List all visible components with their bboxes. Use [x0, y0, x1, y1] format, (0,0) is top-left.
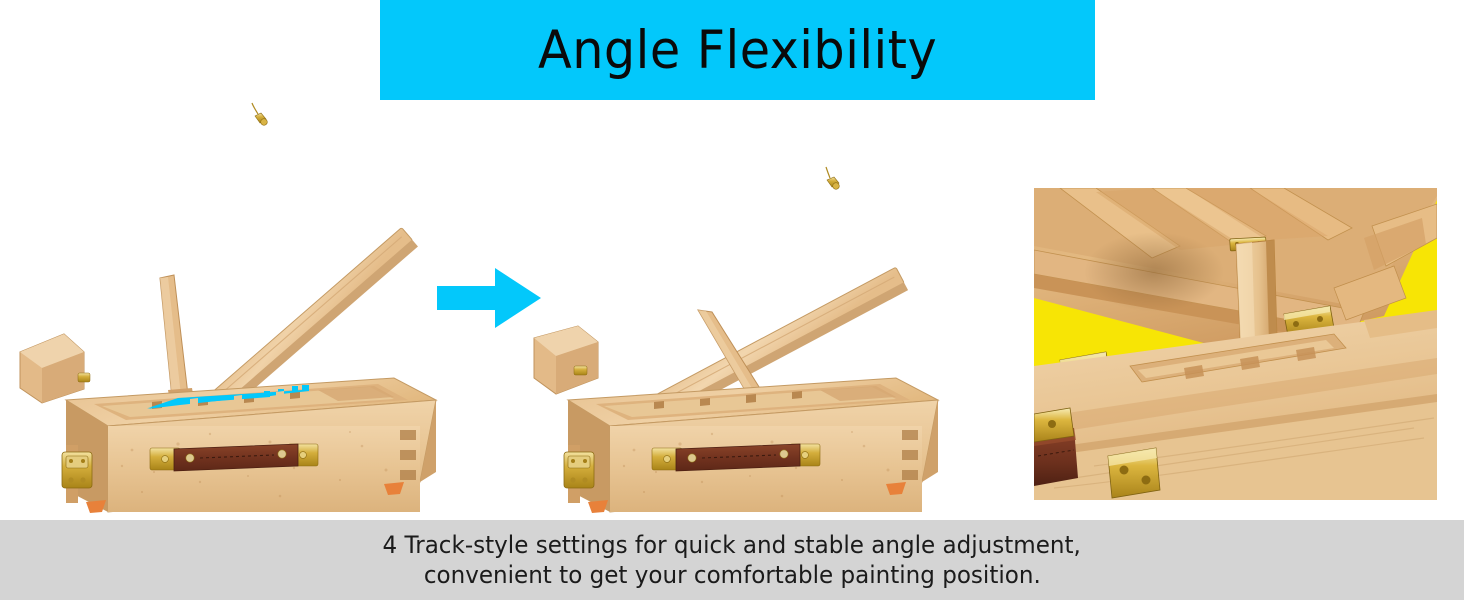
lid-top-brass-clip	[826, 167, 839, 189]
ledge-brass-hinge	[78, 373, 90, 382]
handle-brass-plate-right	[1108, 448, 1160, 498]
caption-line-1: 4 Track-style settings for quick and sta…	[383, 530, 1081, 560]
support-strut-closeup-photo	[1034, 188, 1437, 500]
ledge-brass-hinge	[574, 366, 587, 375]
handle-brass-plate-left	[1034, 408, 1074, 442]
dovetail-joints	[400, 430, 416, 480]
support-strut-high	[160, 275, 194, 402]
lid-top-brass-clip	[252, 103, 267, 125]
dovetail-joints	[902, 430, 918, 480]
easel-high-angle-illustration	[2, 100, 438, 520]
canvas-ledge-rest	[534, 326, 598, 394]
arrow-right-icon	[437, 268, 541, 328]
infographic-canvas: Angle Flexibility	[0, 0, 1464, 600]
caption-band: 4 Track-style settings for quick and sta…	[0, 520, 1464, 600]
page-title: Angle Flexibility	[538, 24, 937, 77]
canvas-ledge-rest	[20, 334, 90, 403]
caption-line-2: convenient to get your comfortable paint…	[424, 560, 1041, 590]
easel-low-angle-illustration	[530, 150, 980, 520]
title-banner: Angle Flexibility	[380, 0, 1095, 100]
